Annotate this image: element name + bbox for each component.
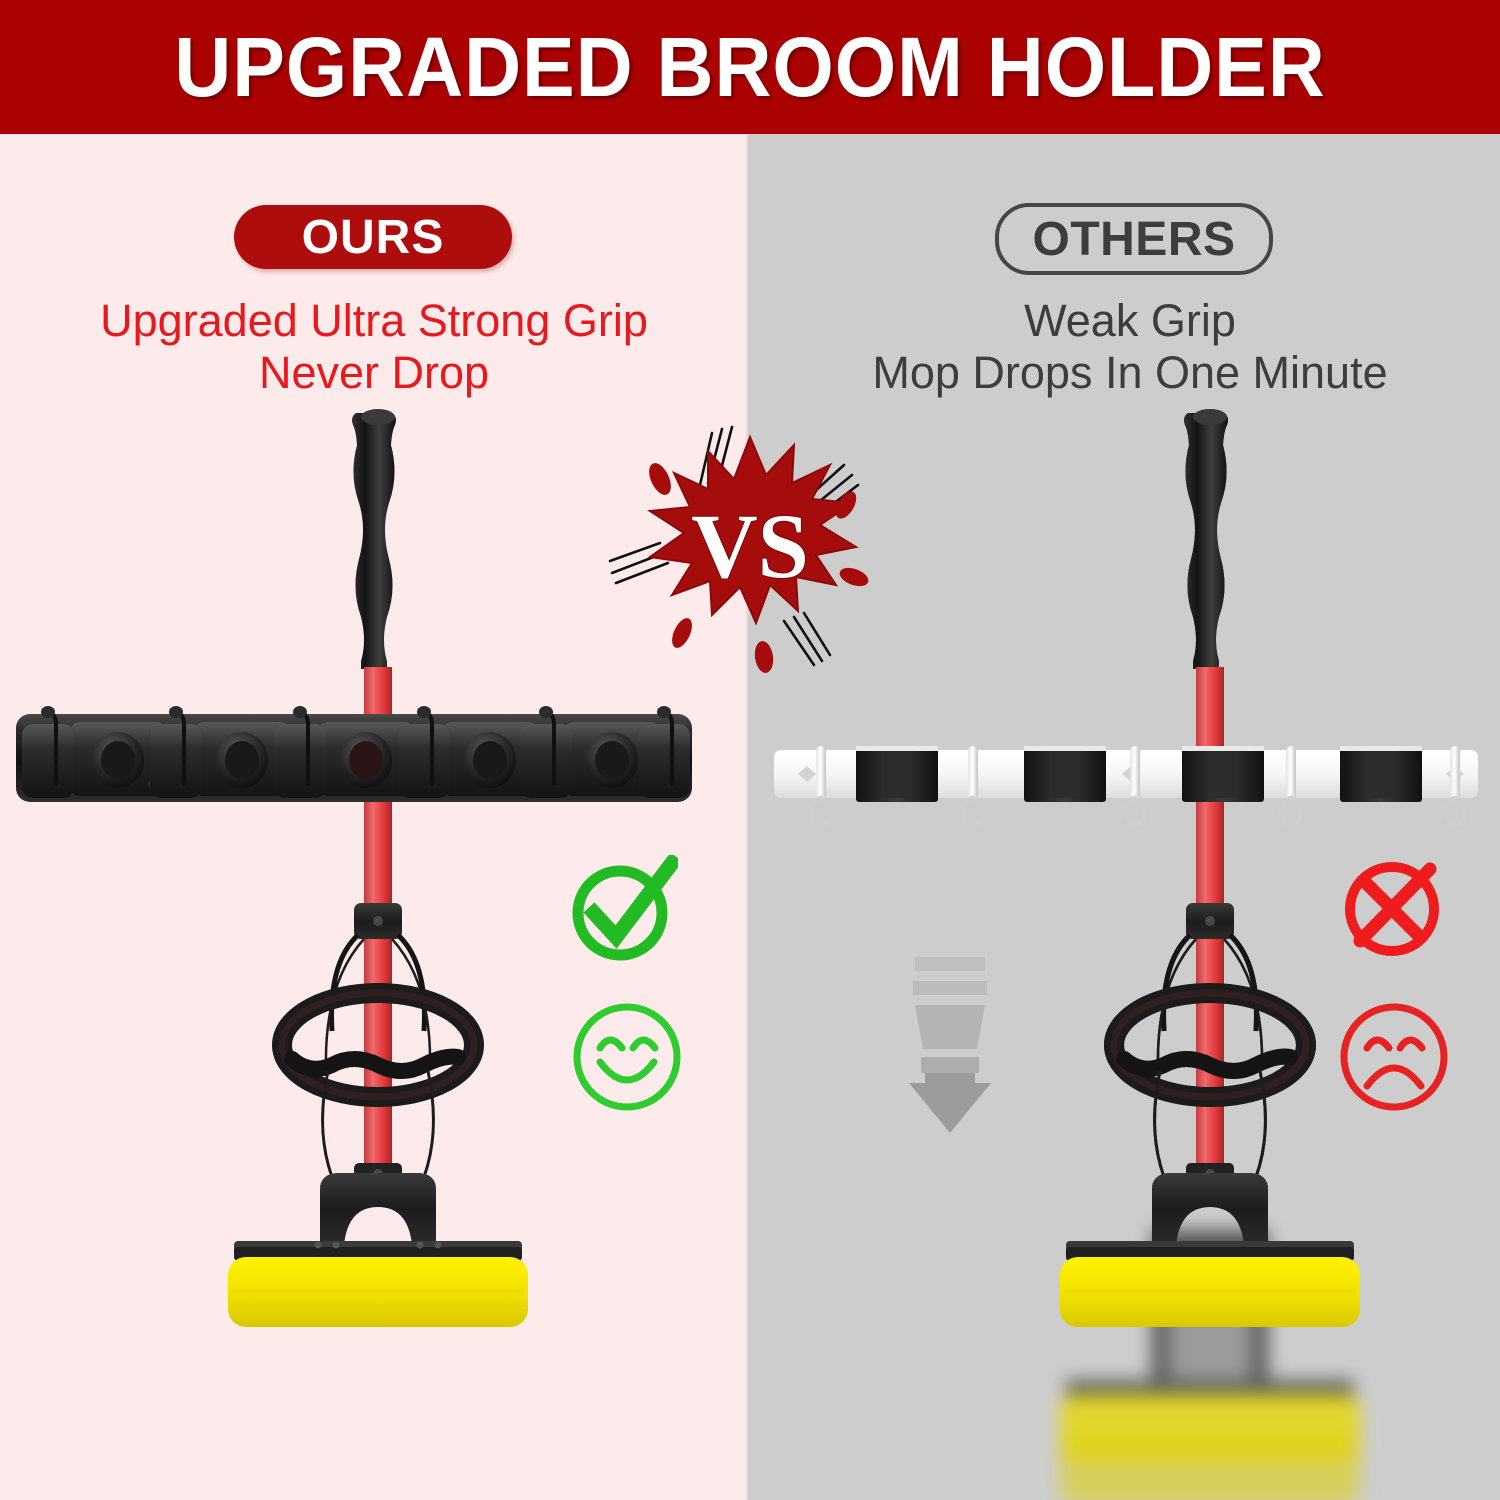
sad-face-icon [1337,1000,1452,1115]
header-banner: UPGRADED BROOM HOLDER [0,0,1500,134]
smiley-face-icon [570,1000,685,1115]
caption-ours: Upgraded Ultra Strong Grip Never Drop [74,295,674,399]
panel-divider [746,134,749,1500]
rail-black-ours [8,700,700,825]
vs-emblem: VS [608,425,893,675]
cross-icon [1338,855,1446,963]
badge-ours: OURS [234,205,512,269]
caption-others: Weak Grip Mop Drops In One Minute [830,295,1430,399]
page-title: UPGRADED BROOM HOLDER [45,0,1455,134]
badge-others: OTHERS [995,203,1273,275]
drop-arrow-icon [895,955,1005,1135]
vs-label: VS [691,495,809,597]
check-icon [568,855,678,965]
comparison-infographic: UPGRADED BROOM HOLDER OURS OTHERS Upgrad… [0,0,1500,1500]
mop-ours [168,405,588,1335]
rail-white-others [770,732,1482,830]
